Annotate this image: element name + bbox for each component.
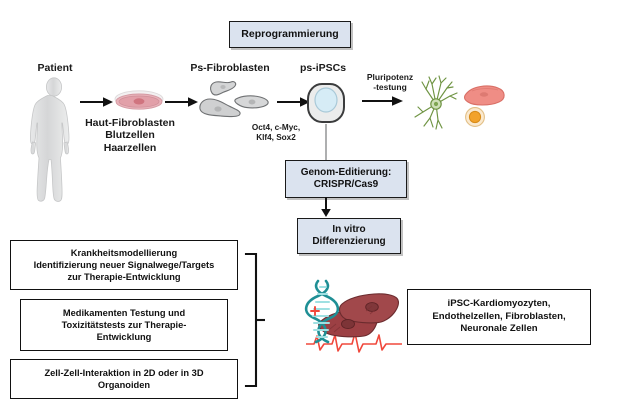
germ-layer-cells-icon [412,74,508,132]
stage-label-primary-cells: Haut-Fibroblasten Blutzellen Haarzellen [72,117,188,154]
stage-label-pluripotenz-testung: Pluripotenz -testung [361,72,419,92]
process-box-genome-editing-label: Genom-Editierung: CRISPR/Cas9 [286,167,406,191]
application-box-disease-modelling-label: Krankheitsmodellierung Identifizierung n… [11,247,237,283]
fibroblast-cells-icon [196,79,272,123]
application-box-drug-testing-label: Medikamenten Testung und Toxizitätstests… [21,307,227,343]
process-box-reprogrammierung: Reprogrammierung [229,21,351,48]
arrow-cells-to-fibroblasts [165,96,199,108]
reprogramming-factors-label: Oct4, c-Myc, Klf4, Sox2 [243,123,309,144]
stage-label-ps-fibroblasten: Ps-Fibroblasten [176,62,284,74]
ipsc-colony-icon [306,81,346,125]
arrow-patient-to-cells [80,96,114,108]
process-box-reprogrammierung-label: Reprogrammierung [230,28,350,41]
process-box-genome-editing: Genom-Editierung: CRISPR/Cas9 [285,160,407,198]
connector-ipsc-to-genome-editing [324,124,328,160]
application-box-cell-cell-interaction-label: Zell-Zell-Interaktion in 2D oder in 3D O… [11,367,237,391]
application-box-drug-testing: Medikamenten Testung und Toxizitätstests… [20,299,228,351]
process-box-in-vitro-differentiation: In vitro Differenzierung [297,218,401,254]
output-box-differentiated-cell-types-label: iPSC-Kardiomyozyten, Endothelzellen, Fib… [408,298,590,335]
arrow-ipsc-to-pluripotency [362,95,404,107]
petri-dish-icon [113,88,165,114]
arrow-genome-editing-to-differentiation [319,197,333,219]
stage-label-ps-ipscs: ps-iPSCs [292,62,354,74]
application-box-disease-modelling: Krankheitsmodellierung Identifizierung n… [10,240,238,290]
stage-label-patient: Patient [20,62,90,74]
process-box-in-vitro-differentiation-label: In vitro Differenzierung [298,224,400,248]
application-box-cell-cell-interaction: Zell-Zell-Interaktion in 2D oder in 3D O… [10,359,238,399]
application-group-bracket [244,252,266,388]
output-box-differentiated-cell-types: iPSC-Kardiomyozyten, Endothelzellen, Fib… [407,289,591,345]
diagram-canvas: Reprogrammierung Patient Ps-Fibroblasten… [0,0,639,414]
human-silhouette-icon [26,76,82,202]
dna-cardiomyocyte-icon [306,280,406,360]
